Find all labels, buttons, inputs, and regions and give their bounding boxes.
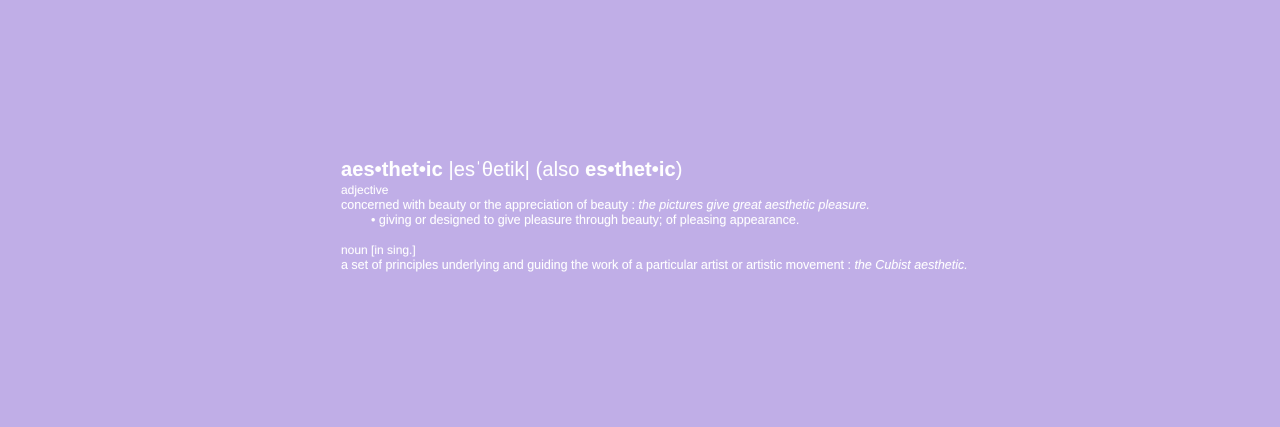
sense-example-adjective: the pictures give great aesthetic pleasu… xyxy=(638,198,869,212)
variant-group: (also es•thet•ic) xyxy=(536,159,683,181)
dictionary-entry: aes•thet•ic |esˈθetik| (also es•thet•ic)… xyxy=(341,158,961,273)
sense-block-divider xyxy=(341,228,961,242)
variant-word: es•thet•ic xyxy=(585,159,676,181)
variant-suffix: ) xyxy=(676,159,683,181)
sense-noun: a set of principles underlying and guidi… xyxy=(341,258,961,273)
dictionary-screen: aes•thet•ic |esˈθetik| (also es•thet•ic)… xyxy=(0,0,1280,427)
example-separator: : xyxy=(628,198,638,212)
subsense-adjective: • giving or designed to give pleasure th… xyxy=(341,213,961,228)
subsense-text-adjective: giving or designed to give pleasure thro… xyxy=(379,213,799,227)
example-separator-noun: : xyxy=(844,258,854,272)
pronunciation: |esˈθetik| xyxy=(449,159,530,181)
headword: aes•thet•ic xyxy=(341,159,443,181)
sense-adjective: concerned with beauty or the appreciatio… xyxy=(341,198,961,213)
sense-definition-adjective: concerned with beauty or the appreciatio… xyxy=(341,198,628,212)
part-of-speech-adjective: adjective xyxy=(341,183,961,198)
headword-line: aes•thet•ic |esˈθetik| (also es•thet•ic) xyxy=(341,158,961,182)
part-of-speech-noun: noun [in sing.] xyxy=(341,243,961,258)
sense-definition-noun: a set of principles underlying and guidi… xyxy=(341,258,844,272)
sense-example-noun: the Cubist aesthetic. xyxy=(854,258,967,272)
variant-prefix: (also xyxy=(536,159,586,181)
